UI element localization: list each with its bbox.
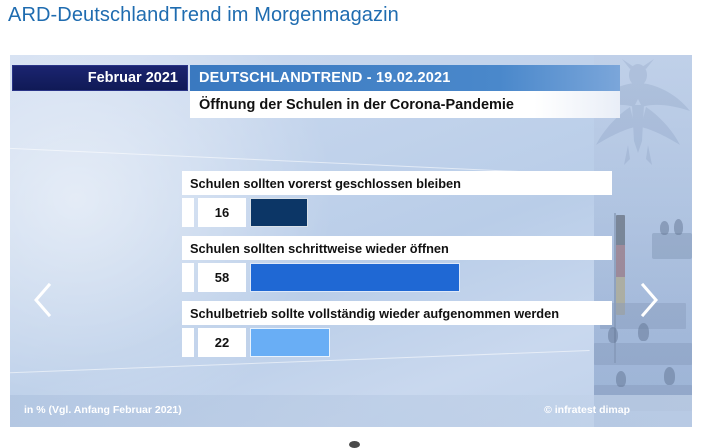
bar-track [250, 198, 612, 227]
page-root: ARD-DeutschlandTrend im Morgenmagazin [0, 0, 702, 447]
copyright-note: © infratest dimap [544, 404, 630, 416]
chart-value: 16 [198, 198, 246, 227]
graphic-title: DEUTSCHLANDTREND - 19.02.2021 [190, 65, 620, 91]
chart-row: Schulen sollten vorerst geschlossen blei… [182, 171, 612, 227]
chart-rows: Schulen sollten vorerst geschlossen blei… [182, 171, 612, 366]
chart-value: 58 [198, 263, 246, 292]
bar-segment [250, 198, 308, 227]
graphic-subtitle: Öffnung der Schulen in der Corona-Pandem… [190, 91, 620, 118]
chart-value: 22 [198, 328, 246, 357]
chevron-left-icon [32, 282, 54, 318]
chart-row-label: Schulbetrieb sollte vollständig wieder a… [182, 301, 612, 325]
chart-row-bar: 58 [182, 263, 612, 292]
prev-slide-button[interactable] [26, 277, 60, 323]
chart-row-bar: 16 [182, 198, 612, 227]
page-title: ARD-DeutschlandTrend im Morgenmagazin [8, 4, 399, 27]
bar-segment [250, 263, 460, 292]
bar-track [250, 328, 612, 357]
chart-row: Schulen sollten schrittweise wieder öffn… [182, 236, 612, 292]
chart-row-bar: 22 [182, 328, 612, 357]
source-note: in % (Vgl. Anfang Februar 2021) [24, 404, 182, 416]
infographic: Februar 2021 DEUTSCHLANDTREND - 19.02.20… [10, 55, 692, 427]
chart-row-label: Schulen sollten vorerst geschlossen blei… [182, 171, 612, 195]
axis-tick [182, 198, 194, 227]
graphic-footer: in % (Vgl. Anfang Februar 2021) © infrat… [10, 395, 692, 427]
bar-track [250, 263, 612, 292]
next-slide-button[interactable] [632, 277, 666, 323]
axis-tick [182, 328, 194, 357]
date-badge: Februar 2021 [12, 65, 188, 91]
chart-row: Schulbetrieb sollte vollständig wieder a… [182, 301, 612, 357]
chevron-right-icon [638, 282, 660, 318]
chart-row-label: Schulen sollten schrittweise wieder öffn… [182, 236, 612, 260]
axis-tick [182, 263, 194, 292]
bar-segment [250, 328, 330, 357]
